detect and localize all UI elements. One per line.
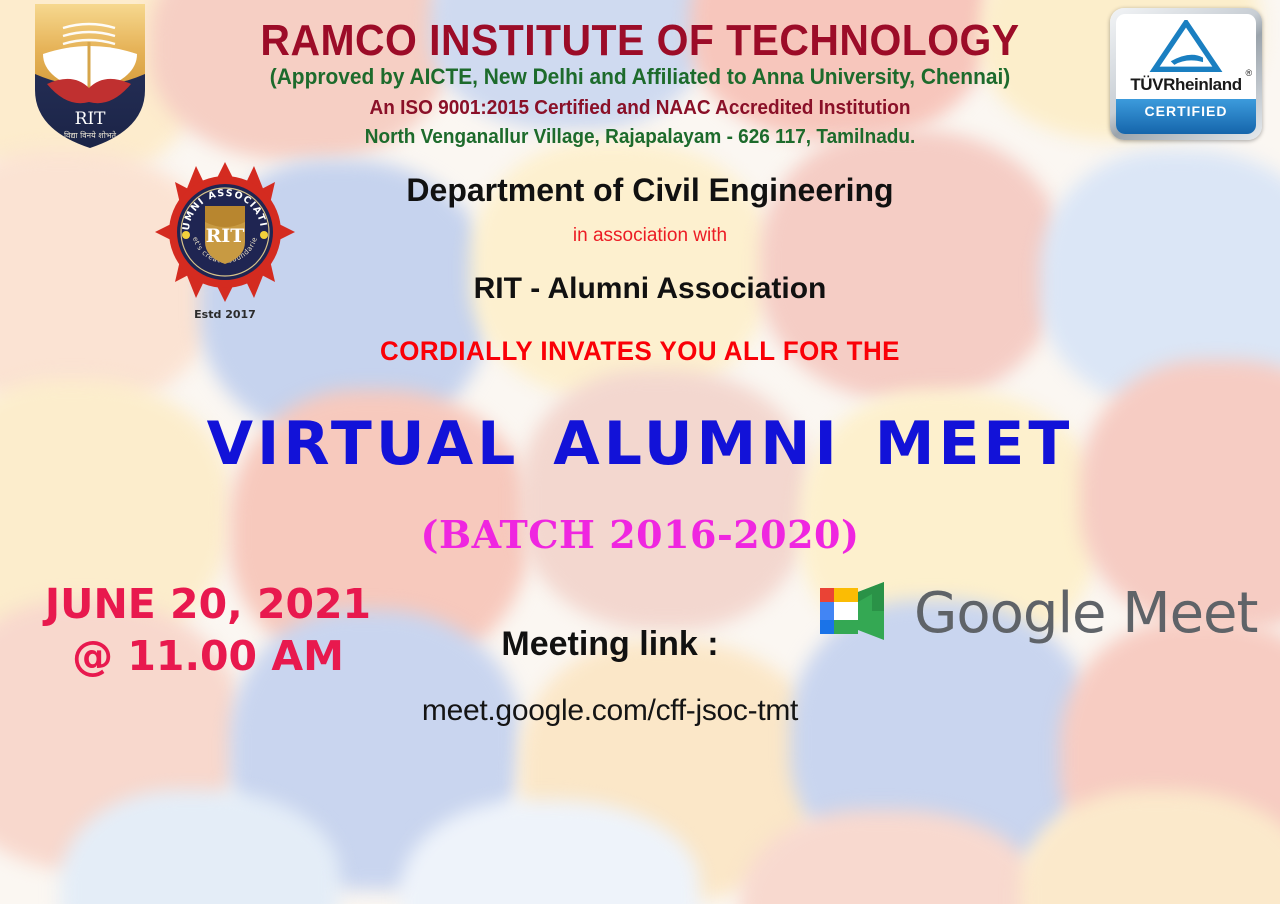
address-line: North Venganallur Village, Rajapalayam -… <box>32 126 1248 149</box>
batch-subtitle: (BATCH 2016-2020) <box>0 512 1280 557</box>
tuv-wordmark: TÜVRheinland ® <box>1130 75 1241 95</box>
svg-text:विद्या विनये शोभते: विद्या विनये शोभते <box>64 130 116 140</box>
tuv-certified-label: CERTIFIED <box>1116 99 1256 134</box>
meeting-link-url[interactable]: meet.google.com/cff-jsoc-tmt <box>380 694 840 728</box>
event-datetime: JUNE 20, 2021 @ 11.00 AM <box>8 578 408 683</box>
alumni-association-seal: ALUMNI ASSOCIATION Let's create boundari… <box>148 160 303 325</box>
event-title: Virtual Alumni Meet <box>0 392 1280 478</box>
event-time: @ 11.00 AM <box>8 630 408 682</box>
college-name: RAMCO INSTITUTE OF TECHNOLOGY <box>45 16 1235 66</box>
registered-mark-icon: ® <box>1245 68 1251 78</box>
google-meet-wordmark: Google Meet <box>914 581 1257 646</box>
svg-text:RIT: RIT <box>206 225 245 247</box>
event-date: JUNE 20, 2021 <box>8 578 408 630</box>
approval-line: (Approved by AICTE, New Delhi and Affili… <box>32 64 1248 90</box>
svg-text:RIT: RIT <box>75 109 107 129</box>
partner-organization: RIT - Alumni Association <box>340 272 960 306</box>
college-crest-logo: RIT विद्या विनये शोभते <box>25 2 155 150</box>
poster-canvas: RIT विद्या विनये शोभते TÜVRheinland ® CE… <box>0 0 1280 904</box>
svg-text:Estd 2017: Estd 2017 <box>194 308 256 321</box>
tuv-wordmark-text: TÜVRheinland <box>1130 75 1241 94</box>
tuv-triangle-icon <box>1147 20 1225 77</box>
google-meet-camera-icon <box>812 578 892 649</box>
invitation-line: CORDIALLY INVATES YOU ALL FOR THE <box>26 336 1255 367</box>
association-connector: in association with <box>340 225 960 247</box>
department-name: Department of Civil Engineering <box>340 172 960 209</box>
iso-accreditation-line: An ISO 9001:2015 Certified and NAAC Accr… <box>32 97 1248 120</box>
google-meet-logo: Google Meet <box>812 578 1257 649</box>
tuv-rheinland-certified-badge: TÜVRheinland ® CERTIFIED <box>1110 8 1262 140</box>
meeting-link-label: Meeting link : <box>400 625 820 664</box>
